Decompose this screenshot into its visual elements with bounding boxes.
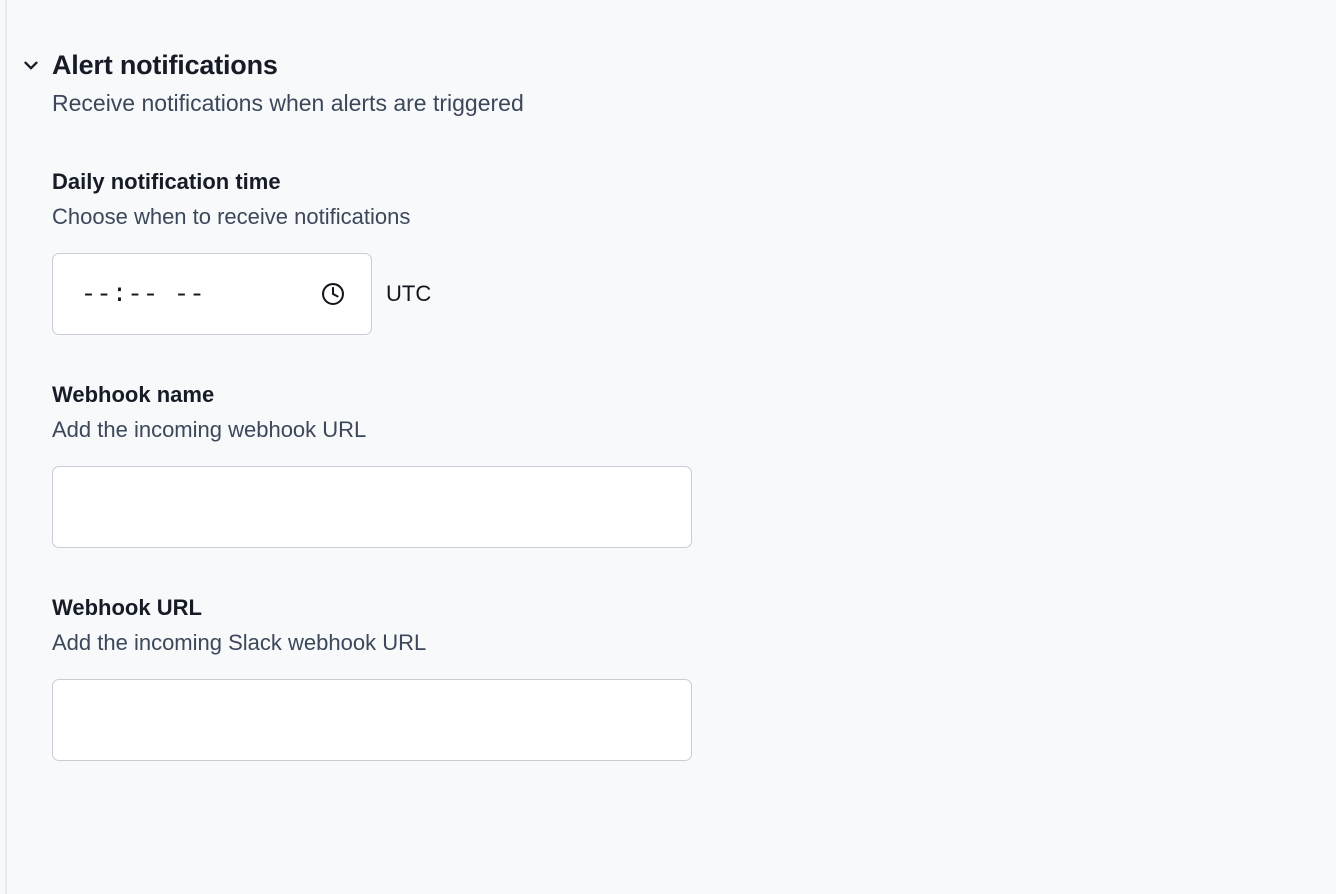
- alert-notifications-panel: Alert notifications Receive notification…: [7, 0, 1336, 894]
- section-description: Receive notifications when alerts are tr…: [7, 89, 1336, 118]
- section-header-alert-notifications[interactable]: Alert notifications: [7, 0, 1336, 82]
- settings-page: Alert notifications Receive notification…: [0, 0, 1336, 894]
- daily-notification-time-row: --:-- -- UTC: [52, 253, 1336, 335]
- webhook-url-label: Webhook URL: [52, 594, 1336, 621]
- field-webhook-url: Webhook URL Add the incoming Slack webho…: [52, 594, 1336, 761]
- webhook-name-label: Webhook name: [52, 381, 1336, 408]
- page-title: Alert notifications: [52, 48, 278, 82]
- daily-notification-time-label: Daily notification time: [52, 168, 1336, 195]
- webhook-name-help: Add the incoming webhook URL: [52, 416, 1336, 444]
- field-list: Daily notification time Choose when to r…: [7, 168, 1336, 761]
- webhook-url-input[interactable]: [52, 679, 692, 761]
- clock-icon[interactable]: [320, 281, 346, 307]
- field-webhook-name: Webhook name Add the incoming webhook UR…: [52, 381, 1336, 548]
- timezone-label: UTC: [386, 280, 431, 308]
- webhook-url-help: Add the incoming Slack webhook URL: [52, 629, 1336, 657]
- chevron-down-icon[interactable]: [20, 54, 42, 76]
- field-daily-notification-time: Daily notification time Choose when to r…: [52, 168, 1336, 335]
- daily-notification-time-input[interactable]: --:-- --: [52, 253, 372, 335]
- time-input-value[interactable]: --:-- --: [53, 280, 205, 309]
- webhook-name-input[interactable]: [52, 466, 692, 548]
- daily-notification-time-help: Choose when to receive notifications: [52, 203, 1336, 231]
